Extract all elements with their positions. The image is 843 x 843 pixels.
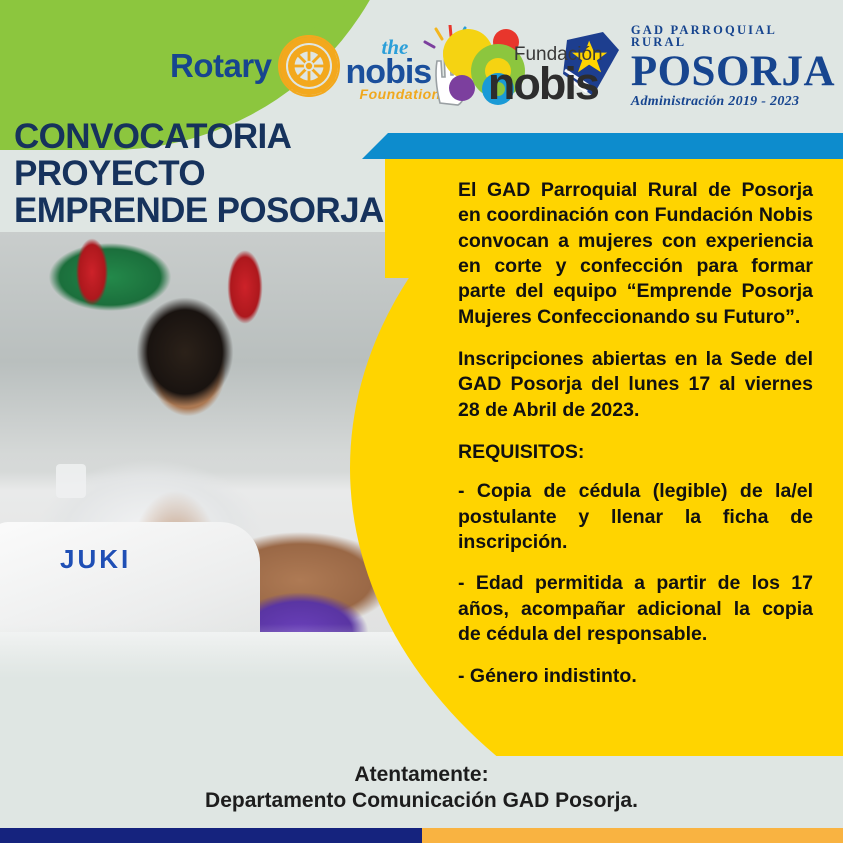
requirement-item-1: - Copia de cédula (legible) de la/el pos…	[458, 479, 813, 555]
fn-nobis-text: nobis	[488, 58, 598, 110]
footer-line-1: Atentamente:	[0, 762, 843, 788]
logo-gad-posorja: GAD PARROQUIAL RURAL POSORJA Administrac…	[559, 24, 835, 109]
headline-line-3: EMPRENDE POSORJA	[14, 192, 434, 229]
paragraph-dates: Inscripciones abiertas en la Sede del GA…	[458, 347, 813, 423]
gad-text-block: GAD PARROQUIAL RURAL POSORJA Administrac…	[631, 24, 835, 109]
bottom-bar-right	[422, 828, 843, 843]
page-title: CONVOCATORIA PROYECTO EMPRENDE POSORJA	[14, 118, 434, 229]
requirements-heading: REQUISITOS:	[458, 440, 813, 465]
paragraph-intro: El GAD Parroquial Rural de Posorja en co…	[458, 178, 813, 330]
requirement-item-3: - Género indistinto.	[458, 664, 813, 689]
header-logo-row: Rotary	[170, 18, 835, 114]
logo-the-nobis-foundation: the nobis Foundation	[340, 23, 442, 109]
footer-line-2: Departamento Comunicación GAD Posorja.	[0, 788, 843, 814]
rotary-wordmark: Rotary	[170, 47, 272, 85]
logo-rotary: Rotary	[170, 35, 340, 97]
juki-brand-label: JUKI	[60, 544, 131, 575]
photo-bottom-fade	[0, 624, 430, 694]
headline-line-2: PROYECTO	[14, 155, 434, 192]
headline-line-1: CONVOCATORIA	[14, 118, 434, 155]
footer-signature: Atentamente: Departamento Comunicación G…	[0, 762, 843, 813]
blue-ribbon-accent	[362, 133, 843, 159]
gad-line-main: POSORJA	[631, 50, 835, 93]
poster-root: Rotary	[0, 0, 843, 843]
shirt-badge	[56, 464, 86, 498]
bottom-bar-left	[0, 828, 422, 843]
announcement-body: El GAD Parroquial Rural de Posorja en co…	[458, 178, 813, 705]
gad-line-sub: Administración 2019 - 2023	[631, 95, 835, 109]
gad-line-top: GAD PARROQUIAL RURAL	[631, 24, 835, 49]
bottom-color-bar	[0, 828, 843, 843]
requirement-item-2: - Edad permitida a partir de los 17 años…	[458, 571, 813, 647]
logo-fundacion-nobis: Fundación nobis	[442, 22, 559, 110]
rotary-wheel-icon	[278, 35, 340, 97]
